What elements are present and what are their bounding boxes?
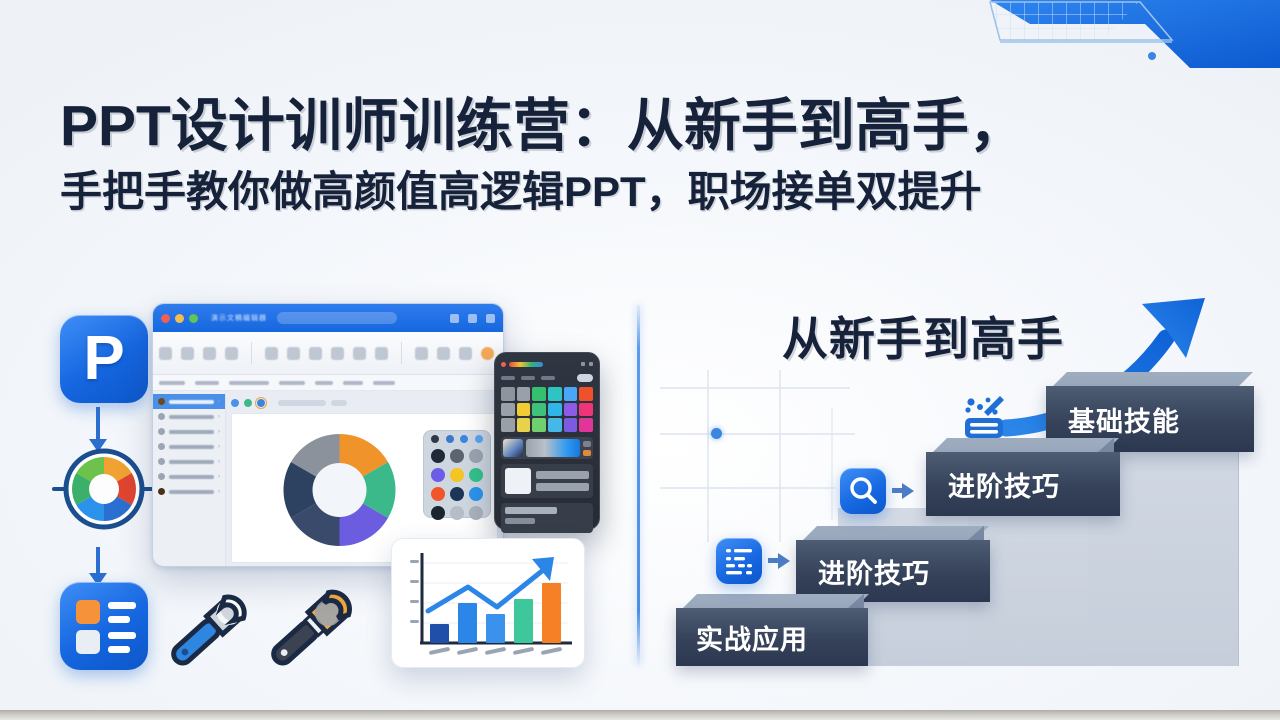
sidebar-item-label <box>169 400 214 404</box>
picker-detail-line-1 <box>536 471 589 479</box>
step-advanced-1[interactable]: 进阶技巧 <box>796 540 986 602</box>
title-block: PPT设计训师训练营：从新手到高手， 手把手教你做高颜值高逻辑PPT，职场接单双… <box>60 96 1240 215</box>
swatch-10[interactable] <box>450 506 464 520</box>
canvas-field[interactable] <box>278 400 326 406</box>
layout-line-4 <box>108 646 130 653</box>
poster-canvas: PPT设计训师训练营：从新手到高手， 手把手教你做高颜值高逻辑PPT，职场接单双… <box>0 0 1280 720</box>
toolbar-icon-chart[interactable] <box>353 347 366 360</box>
toolbar-icon-text[interactable] <box>225 347 238 360</box>
picker-swatch-1[interactable] <box>517 387 531 401</box>
chevron-right-icon: › <box>218 399 220 405</box>
layout-line-2 <box>108 616 130 623</box>
color-swatch-panel[interactable] <box>423 430 491 518</box>
swatch-top-3[interactable] <box>475 435 483 443</box>
tab-transition[interactable] <box>279 381 305 385</box>
picker-titlebar <box>501 359 593 369</box>
app-toolbar <box>153 332 503 375</box>
picker-swatch-5[interactable] <box>579 387 593 401</box>
swatch-top-1[interactable] <box>446 435 454 443</box>
toolbar-icon-layer[interactable] <box>437 347 450 360</box>
swatch-8[interactable] <box>469 487 483 501</box>
wrench-orange-icon <box>266 587 355 672</box>
chevron-right-icon: › <box>218 474 220 480</box>
toolbar-icon-grid[interactable] <box>459 347 472 360</box>
canvas-toolbar <box>231 396 498 409</box>
sidebar-item-icon <box>158 458 165 465</box>
picker-swatch-12[interactable] <box>501 418 515 432</box>
sidebar-item-label <box>169 430 214 434</box>
picker-preview-thumb <box>503 439 523 457</box>
canvas-tool-3-selected[interactable] <box>257 399 265 407</box>
picker-swatch-grid <box>501 387 593 432</box>
picker-actions <box>581 362 593 366</box>
sidebar-item-5[interactable]: › <box>153 469 225 484</box>
chart-axis-ticks <box>410 560 419 623</box>
page-title-line2: 手把手教你做高颜值高逻辑PPT，职场接单双提升 <box>60 168 1240 215</box>
bar-chart-svg <box>392 539 584 667</box>
swatch-7[interactable] <box>450 487 464 501</box>
tab-view[interactable] <box>315 381 333 385</box>
toolbar-icon-animation[interactable] <box>375 347 388 360</box>
chevron-right-icon: › <box>218 459 220 465</box>
page-title-line1: PPT设计训师训练营：从新手到高手， <box>60 96 1240 158</box>
picker-swatch-16[interactable] <box>564 418 578 432</box>
picker-footer-line-1 <box>505 507 557 514</box>
toolbar-icon-image[interactable] <box>309 347 322 360</box>
vertical-divider <box>637 305 640 665</box>
picker-swatch-7[interactable] <box>517 403 531 417</box>
chevron-right-icon: › <box>218 429 220 435</box>
sidebar-item-icon <box>158 413 165 420</box>
sidebar-item-icon <box>158 443 165 450</box>
wrench-tools-group <box>168 568 368 678</box>
chevron-right-icon: › <box>218 489 220 495</box>
sidebar-item-2[interactable]: › <box>153 424 225 439</box>
sidebar-item-label <box>169 445 214 449</box>
left-icon-flow: P <box>52 315 156 670</box>
picker-swatch-9[interactable] <box>548 403 562 417</box>
app-titlebar: 演示文稿编辑器 <box>153 304 503 332</box>
swatch-0[interactable] <box>431 449 445 463</box>
picker-tab-sliders[interactable] <box>541 376 555 380</box>
picker-detail-block <box>501 464 593 498</box>
picker-expand-icon[interactable] <box>589 362 593 366</box>
sidebar-item-label <box>169 415 214 419</box>
sidebar-item-1[interactable]: › <box>153 409 225 424</box>
picker-detail-lines <box>536 468 589 494</box>
picker-detail-line-2 <box>536 483 589 491</box>
share-icon[interactable] <box>450 314 459 323</box>
arrow-tail-2 <box>892 488 902 493</box>
picker-eyedropper-icon[interactable] <box>577 374 593 382</box>
picker-swatch-8[interactable] <box>532 403 546 417</box>
step-label-practice: 实战应用 <box>676 608 868 666</box>
layout-line-1 <box>108 602 136 609</box>
sidebar-item-0[interactable]: › <box>153 394 225 409</box>
chevron-right-icon: › <box>218 444 220 450</box>
picker-minimize-icon[interactable] <box>581 362 585 366</box>
layout-swatch-orange <box>76 600 100 624</box>
picker-swatch-2[interactable] <box>532 387 546 401</box>
picker-gradient-bar[interactable] <box>526 439 580 457</box>
toolbar-icon-undo[interactable] <box>287 347 300 360</box>
picker-swatch-10[interactable] <box>564 403 578 417</box>
swatch-top-0[interactable] <box>431 435 439 443</box>
layout-icon[interactable] <box>60 582 148 670</box>
sidebar-item-icon <box>158 398 165 405</box>
arrow-tail-1 <box>768 558 778 563</box>
tab-insert[interactable] <box>195 381 219 385</box>
picker-slider-2[interactable] <box>583 450 591 456</box>
zoom-icon[interactable] <box>189 314 198 323</box>
picker-swatch-4[interactable] <box>564 387 578 401</box>
step-practice[interactable]: 实战应用 <box>676 608 866 666</box>
chart-bars <box>430 583 561 643</box>
crosshair-left <box>52 487 68 491</box>
wrench-blue-icon <box>168 592 249 671</box>
step-advanced-2[interactable]: 进阶技巧 <box>926 452 1116 516</box>
picker-tab-spectrum[interactable] <box>521 376 535 380</box>
swatch-3[interactable] <box>431 468 445 482</box>
sidebar-item-3[interactable]: › <box>153 439 225 454</box>
swatch-2[interactable] <box>469 449 483 463</box>
picker-slider-group <box>583 441 591 456</box>
step-top-face <box>803 526 989 540</box>
arrow-head-2 <box>902 483 914 499</box>
app-window-mock[interactable]: 演示文稿编辑器 <box>152 303 504 567</box>
arrow-head-1 <box>778 553 790 569</box>
layout-swatch-grey <box>76 630 100 654</box>
step-top-face <box>1053 372 1253 386</box>
sidebar-item-6[interactable]: › <box>153 484 225 499</box>
sidebar-item-4[interactable]: › <box>153 454 225 469</box>
picker-gradient-row[interactable] <box>501 437 593 459</box>
swatch-top-2[interactable] <box>460 435 468 443</box>
canvas-tool-2[interactable] <box>244 399 252 407</box>
picker-tab-grid[interactable] <box>501 376 515 380</box>
picker-footer <box>501 503 593 533</box>
toolbar-icon-copy[interactable] <box>181 347 194 360</box>
picker-slider-1[interactable] <box>583 441 591 447</box>
picker-swatch-3[interactable] <box>548 387 562 401</box>
tab-design[interactable] <box>229 381 269 385</box>
picker-swatch-0[interactable] <box>501 387 515 401</box>
search-input[interactable] <box>277 312 397 324</box>
grid-node-dot <box>711 428 722 439</box>
picker-swatch-11[interactable] <box>579 403 593 417</box>
bottom-strip <box>0 711 1280 720</box>
swatch-6[interactable] <box>431 487 445 501</box>
powerpoint-letter: P <box>60 315 148 403</box>
form-list-icon[interactable] <box>716 538 762 584</box>
app-sidebar: › › › › › › › <box>153 391 226 567</box>
picker-swatch-13[interactable] <box>517 418 531 432</box>
step-label-advanced-2: 进阶技巧 <box>926 452 1120 516</box>
canvas-tool-1[interactable] <box>231 399 239 407</box>
picker-swatch-17[interactable] <box>579 418 593 432</box>
toolbar-icon-table[interactable] <box>331 347 344 360</box>
picker-swatch-6[interactable] <box>501 403 515 417</box>
swatch-1[interactable] <box>450 449 464 463</box>
comment-icon[interactable] <box>468 314 477 323</box>
sidebar-item-icon <box>158 488 165 495</box>
step-top-face <box>683 594 869 608</box>
search-icon[interactable] <box>840 468 886 514</box>
color-picker-panel[interactable] <box>494 352 600 530</box>
bar-chart-card[interactable] <box>391 538 585 668</box>
swatch-9[interactable] <box>431 506 445 520</box>
swatch-top-row <box>431 435 483 443</box>
tab-help[interactable] <box>373 381 395 385</box>
minimize-icon[interactable] <box>175 314 184 323</box>
color-wheel-icon[interactable] <box>62 447 146 531</box>
sidebar-item-label <box>169 475 214 479</box>
app-window-title: 演示文稿编辑器 <box>211 313 267 323</box>
app-tabs <box>153 375 503 391</box>
picker-close-icon[interactable] <box>501 362 506 367</box>
chevron-right-icon: › <box>218 414 220 420</box>
flow-arrow-stem-1 <box>96 407 100 441</box>
swatch-11[interactable] <box>469 506 483 520</box>
sidebar-item-label <box>169 490 214 494</box>
swatch-4[interactable] <box>450 468 464 482</box>
toolbar-icon-shape[interactable] <box>265 347 278 360</box>
canvas-field-small[interactable] <box>331 400 347 406</box>
tab-review[interactable] <box>343 381 363 385</box>
toolbar-divider-1 <box>251 342 252 364</box>
toolbar-divider-2 <box>401 342 402 364</box>
swatch-5[interactable] <box>469 468 483 482</box>
sidebar-item-label <box>169 460 214 464</box>
sidebar-item-icon <box>158 473 165 480</box>
picker-tabs <box>501 372 593 383</box>
picker-hue-strip <box>509 362 543 367</box>
picker-swatch-15[interactable] <box>548 418 562 432</box>
present-icon[interactable] <box>486 314 495 323</box>
corner-ribbon-decoration <box>940 0 1280 96</box>
powerpoint-icon[interactable]: P <box>60 315 148 403</box>
magic-wand-icon[interactable] <box>958 392 1012 444</box>
titlebar-actions <box>450 314 495 323</box>
picker-footer-line-2 <box>505 518 535 524</box>
step-label-advanced-1: 进阶技巧 <box>796 540 990 602</box>
chart-x-labels <box>429 647 562 655</box>
picker-swatch-14[interactable] <box>532 418 546 432</box>
close-icon[interactable] <box>161 314 170 323</box>
toolbar-icon-highlight[interactable] <box>481 347 494 360</box>
sidebar-item-icon <box>158 428 165 435</box>
tab-home[interactable] <box>159 381 185 385</box>
toolbar-icon-align[interactable] <box>415 347 428 360</box>
toolbar-icon-format[interactable] <box>203 347 216 360</box>
layout-line-3 <box>108 632 136 639</box>
toolbar-icon-paste[interactable] <box>159 347 172 360</box>
picker-current-color[interactable] <box>505 468 531 494</box>
